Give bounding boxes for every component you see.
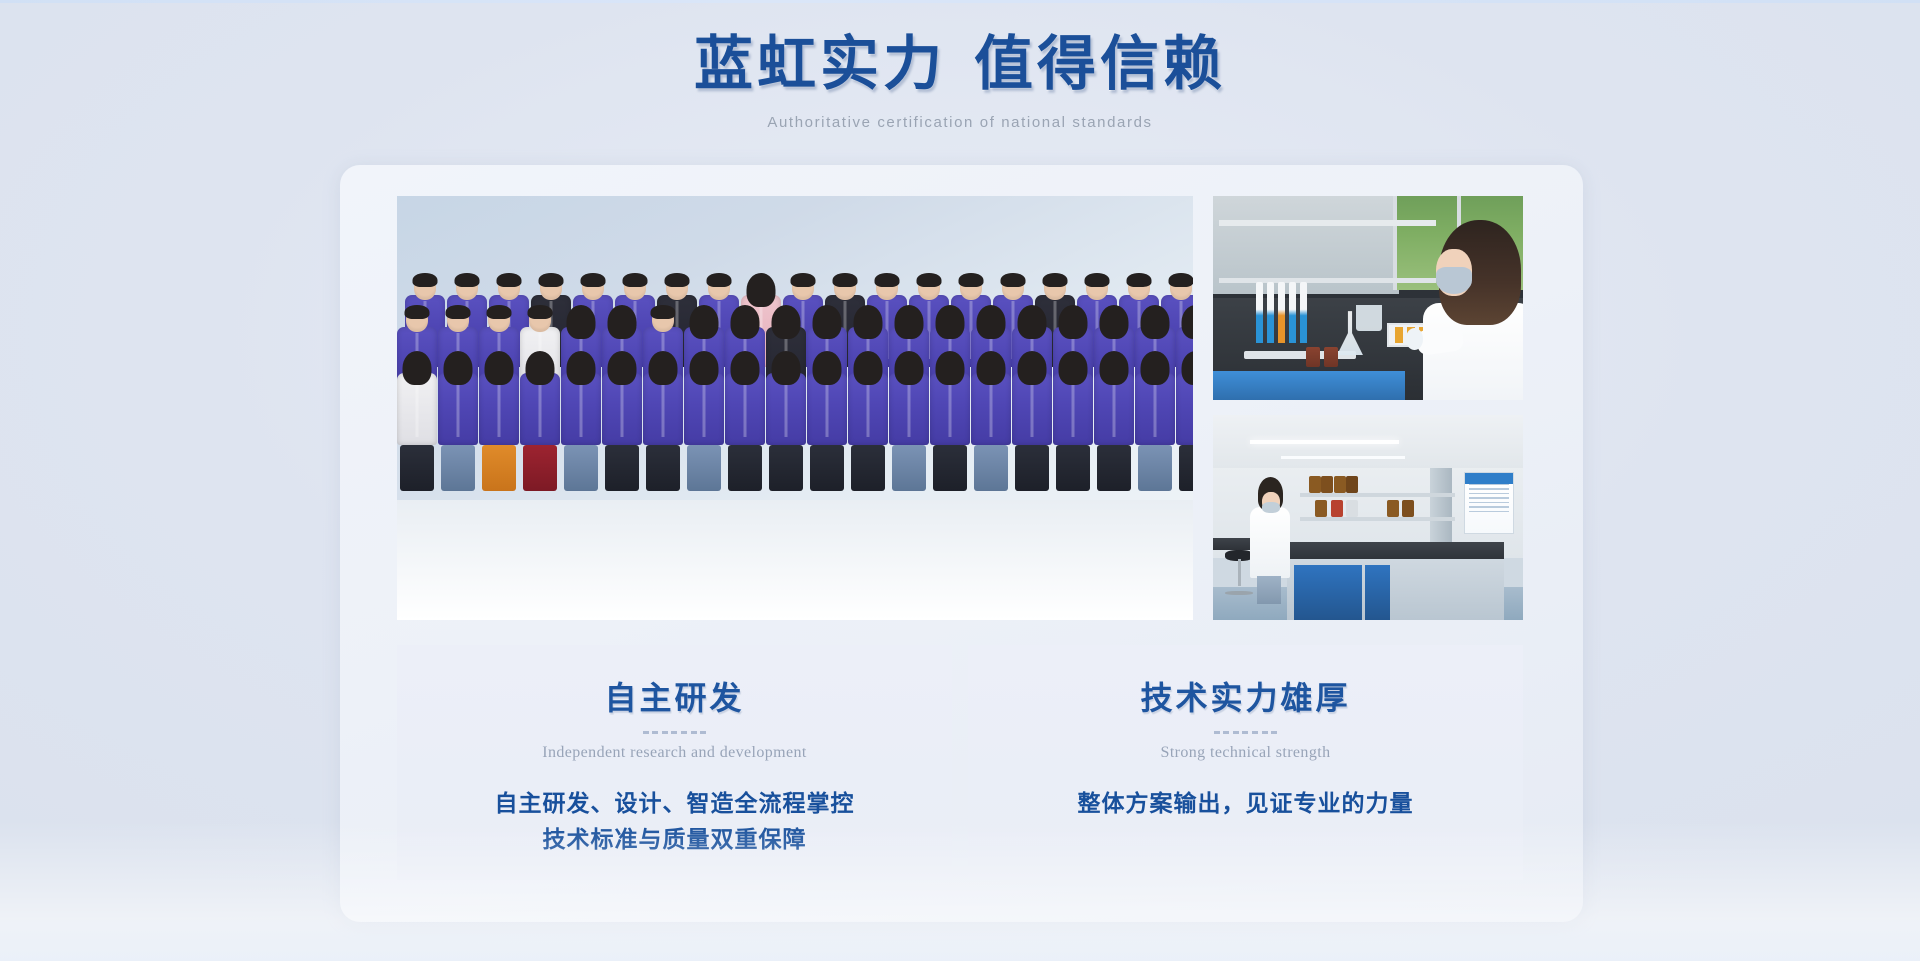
feature-card-independent-rd[interactable]: 自主研发 Independent research and developmen… xyxy=(397,645,952,880)
page-title-part-1: 蓝虹实力 xyxy=(694,31,946,97)
person xyxy=(561,354,601,491)
feature-title: 自主研发 xyxy=(417,673,932,719)
lab-technician-figure xyxy=(1393,220,1523,400)
feature-card-technical-strength[interactable]: 技术实力雄厚 Strong technical strength 整体方案输出，… xyxy=(968,645,1523,880)
person xyxy=(602,354,642,491)
feature-subtitle: Independent research and development xyxy=(417,744,932,762)
person xyxy=(438,354,478,491)
person xyxy=(930,354,970,491)
person xyxy=(397,354,437,491)
feature-title: 技术实力雄厚 xyxy=(988,673,1503,719)
feature-body-line-1: 自主研发、设计、智造全流程掌控 xyxy=(417,786,932,822)
lab-technician-photo: lab-technician-pipette-photo xyxy=(1213,196,1523,400)
reagent-shelf-group xyxy=(1300,472,1455,534)
lab-bench-front-panel xyxy=(1213,371,1405,400)
page-subtitle: Authoritative certification of national … xyxy=(0,114,1920,131)
person xyxy=(684,354,724,491)
person xyxy=(479,354,519,491)
divider-dashes xyxy=(1214,731,1278,734)
lab-researcher-figure xyxy=(1250,477,1290,604)
ceiling-light-secondary xyxy=(1281,456,1405,459)
lab-coat xyxy=(1250,507,1290,578)
person xyxy=(520,354,560,491)
photo-floor xyxy=(397,500,1193,620)
lab-stool xyxy=(1225,550,1253,595)
feature-body: 自主研发、设计、智造全流程掌控 技术标准与质量双重保障 xyxy=(417,786,932,857)
page-title: 蓝虹实力值得信赖 xyxy=(0,28,1920,102)
person xyxy=(1053,354,1093,491)
photo-people-row-front xyxy=(397,354,1193,491)
person xyxy=(807,354,847,491)
person xyxy=(848,354,888,491)
content-panel: company-team-group-photo l xyxy=(340,165,1583,922)
person xyxy=(643,354,683,491)
glove-icon xyxy=(1406,328,1422,350)
face-mask-icon xyxy=(1262,502,1280,513)
face-mask-icon xyxy=(1436,267,1471,294)
page-title-part-2: 值得信赖 xyxy=(974,31,1226,97)
person xyxy=(1094,354,1134,491)
divider-dashes xyxy=(643,731,707,734)
page-top-accent-bar xyxy=(0,0,1920,3)
person xyxy=(1176,354,1193,491)
person xyxy=(1135,354,1175,491)
person xyxy=(889,354,929,491)
person xyxy=(725,354,765,491)
person xyxy=(766,354,806,491)
lab-beaker xyxy=(1356,305,1382,331)
pipette-set xyxy=(1256,282,1337,343)
feature-card-list: 自主研发 Independent research and developmen… xyxy=(397,645,1523,880)
person xyxy=(1012,354,1052,491)
feature-subtitle: Strong technical strength xyxy=(988,744,1503,762)
cabinet-drawer-blue-secondary xyxy=(1365,565,1390,620)
lab-reagent-bottles xyxy=(1306,347,1338,367)
person xyxy=(971,354,1011,491)
cabinet-drawer-blue xyxy=(1294,565,1362,620)
feature-body-line-1: 整体方案输出，见证专业的力量 xyxy=(988,786,1503,822)
feature-body: 整体方案输出，见证专业的力量 xyxy=(988,786,1503,822)
ceiling-light xyxy=(1250,440,1399,444)
researcher-legs xyxy=(1257,576,1280,604)
laboratory-room-photo: laboratory-room-photo xyxy=(1213,415,1523,620)
team-group-photo: company-team-group-photo xyxy=(397,196,1193,620)
feature-body-line-2: 技术标准与质量双重保障 xyxy=(417,822,932,858)
safety-notice-poster xyxy=(1464,472,1514,534)
page-header: 蓝虹实力值得信赖 Authoritative certification of … xyxy=(0,28,1920,131)
